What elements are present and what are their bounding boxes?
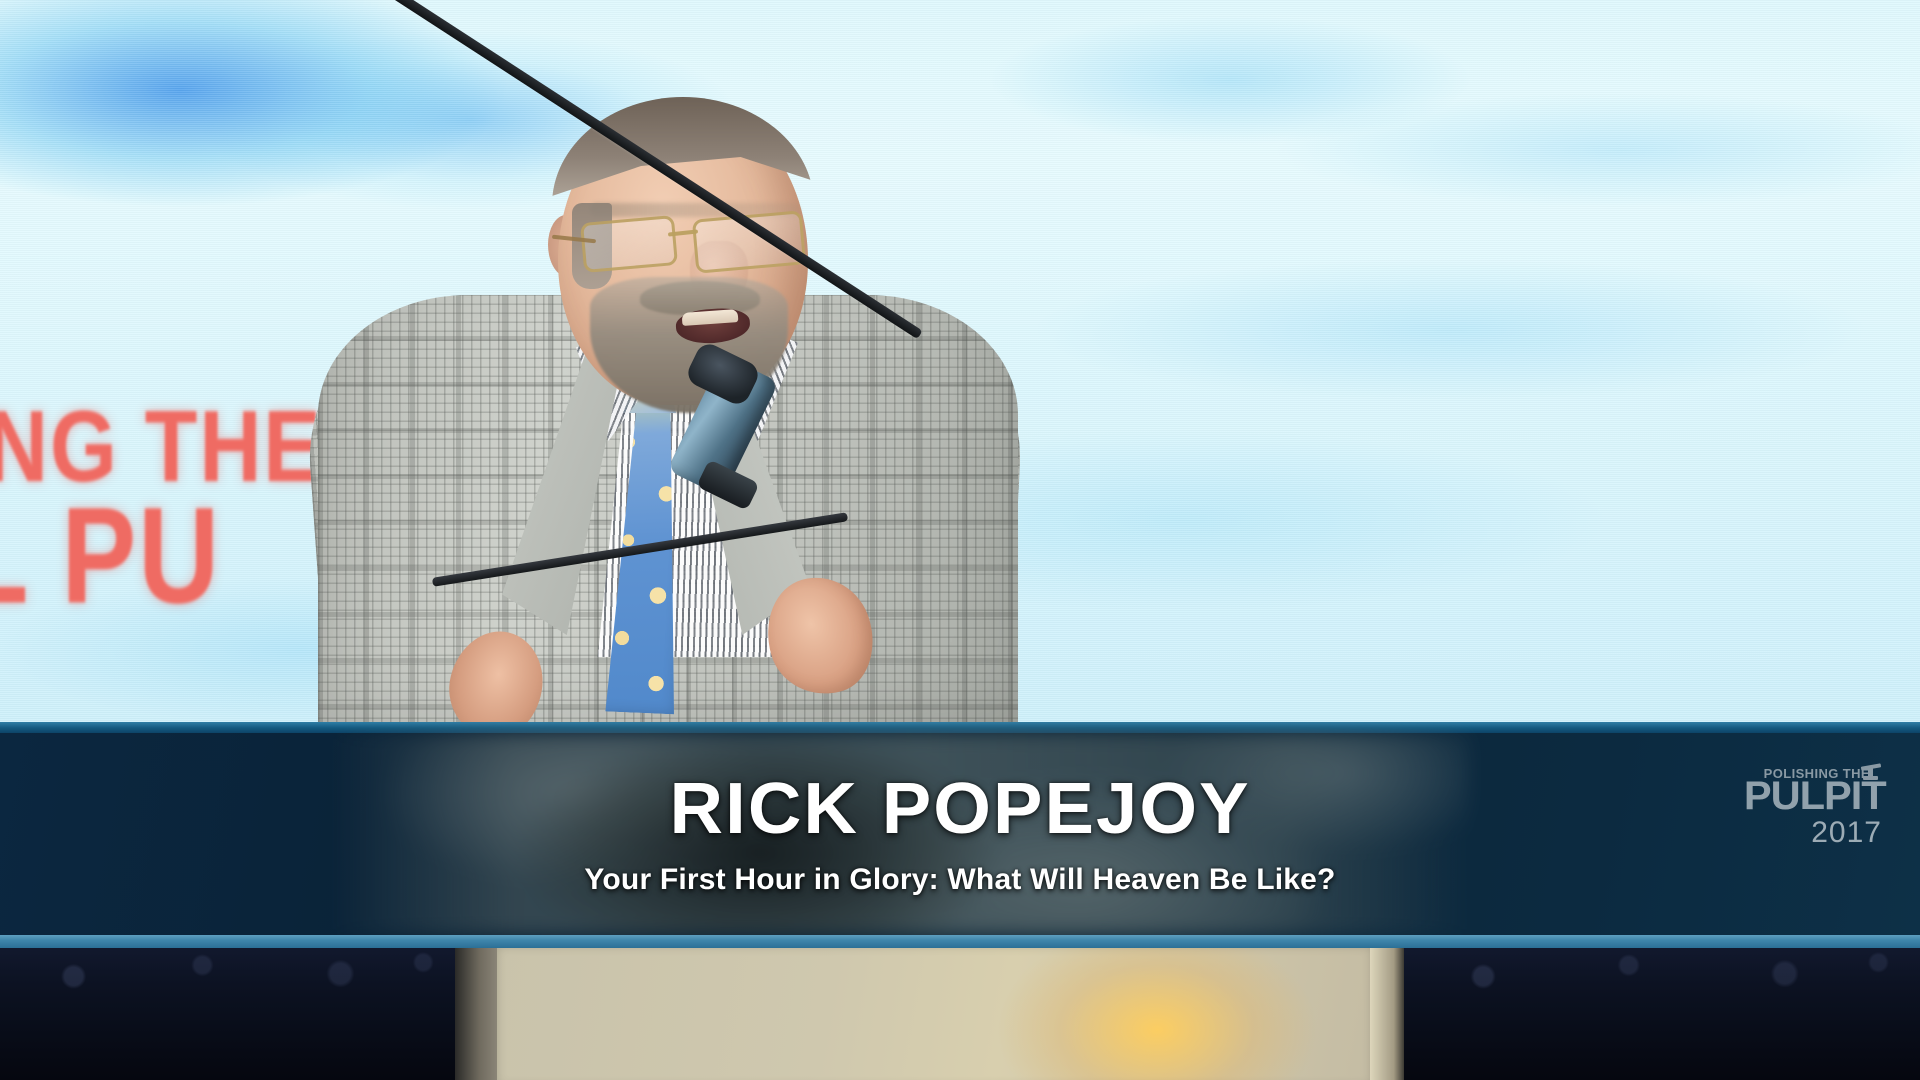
logo-line-2: PULPIT [1698,776,1885,816]
sermon-title: Your First Hour in Glory: What Will Heav… [584,865,1335,895]
podium-foreground [0,940,1920,1080]
lower-third-banner: RICK POPEJOY Your First Hour in Glory: W… [0,722,1920,948]
speaker-figure [290,95,1050,745]
eyeglass-lens-left [580,215,678,273]
audience-area-left [0,940,460,1080]
event-logo: POLISHING THE PULPIT 2017 [1702,762,1882,848]
banner-accent-bar-top [0,722,1920,733]
banner-text-group: RICK POPEJOY Your First Hour in Glory: W… [0,733,1920,935]
screen-text-line-2: L PU [0,488,221,625]
podium-edge-right [1370,940,1404,1080]
banner-accent-bar-bottom [0,935,1920,948]
video-frame: ING THE L PU [0,0,1920,1080]
podium-edge-left [455,940,499,1080]
speaker-name: RICK POPEJOY [669,773,1250,845]
podium-front-panel [497,940,1372,1080]
audience-area-right [1400,940,1920,1080]
logo-year: 2017 [1702,818,1882,848]
